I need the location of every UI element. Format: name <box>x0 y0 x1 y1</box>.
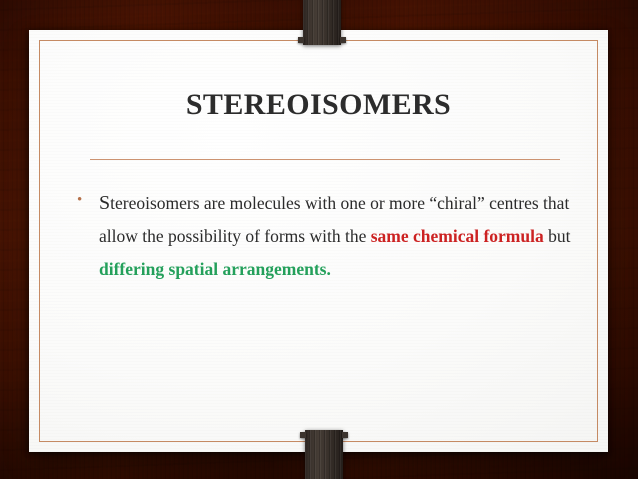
clip-top-tab-left <box>298 37 304 43</box>
clip-bottom-grain <box>305 430 343 479</box>
slide-paper: STEREOISOMERS • Stereoisomers are molecu… <box>29 30 608 452</box>
highlight-same-chemical-formula: same chemical formula <box>371 226 544 246</box>
lead-capital-letter: S <box>99 192 110 214</box>
page-title: STEREOISOMERS <box>29 88 608 122</box>
clip-top-tab-right <box>340 37 346 43</box>
slide-content: STEREOISOMERS • Stereoisomers are molecu… <box>29 30 608 452</box>
bullet-dot-icon: • <box>77 187 99 208</box>
clip-bottom-tab-right <box>342 432 348 438</box>
paper-clip-bottom-icon <box>305 430 343 479</box>
clip-top-grain <box>303 0 341 45</box>
paper-clip-top-icon <box>303 0 341 45</box>
body-text-block: • Stereoisomers are molecules with one o… <box>77 187 577 286</box>
highlight-differing-spatial-arrangements: differing spatial arrangements. <box>99 259 331 279</box>
slide-stage: STEREOISOMERS • Stereoisomers are molecu… <box>0 0 638 479</box>
body-segment-two: but <box>544 226 571 246</box>
title-divider <box>90 159 560 160</box>
list-item-text: Stereoisomers are molecules with one or … <box>99 187 577 286</box>
list-item: • Stereoisomers are molecules with one o… <box>77 187 577 286</box>
clip-bottom-tab-left <box>300 432 306 438</box>
